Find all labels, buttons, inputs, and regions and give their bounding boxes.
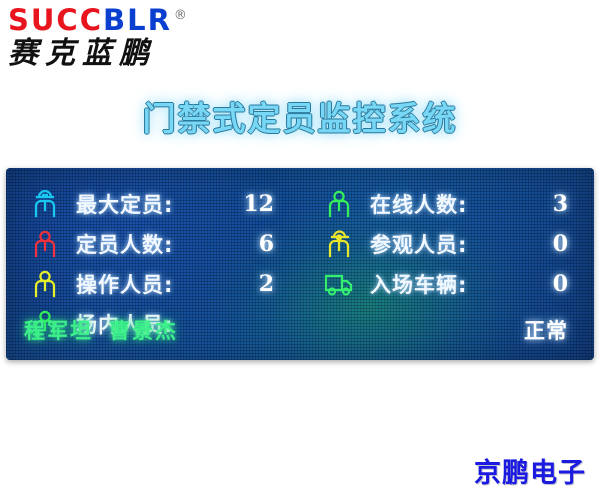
led-value-max-capacity: 12 [243,191,274,217]
led-value-online-count: 3 [553,191,568,217]
led-label-max-capacity: 最大定员: [76,189,173,219]
page-title: 门禁式定员监控系统 [0,92,600,140]
person-cap-icon [322,230,356,258]
led-onsite-name-1: 程军坦 [24,319,93,343]
led-row-online-count: 在线人数: 3 [300,184,594,224]
registered-trademark-icon: ® [174,8,187,23]
led-row-assigned-count: 定员人数: 6 [6,224,300,264]
person-hardhat-icon [28,190,62,218]
led-label-vehicles: 入场车辆: [370,269,467,299]
led-value-vehicles: 0 [553,271,568,297]
led-label-visitors: 参观人员: [370,229,467,259]
logo-chinese-text: 赛克蓝鹏 [8,38,238,70]
led-label-operators: 操作人员: [76,269,173,299]
led-onsite-name-2: 曹景杰 [109,319,178,343]
person-icon [322,190,356,218]
led-bottom-row: 程军坦曹景杰 正常 [6,310,594,350]
led-value-visitors: 0 [553,231,568,257]
footer-brand: 京鹏电子 [474,451,586,490]
logo-latin-red: SUCC [8,3,103,37]
led-status-badge: 正常 [524,315,568,345]
led-onsite-names: 程军坦曹景杰 [24,315,178,345]
person-icon [28,270,62,298]
led-row-visitors: 参观人员: 0 [300,224,594,264]
led-value-operators: 2 [259,271,274,297]
person-icon [28,230,62,258]
truck-icon [322,271,356,297]
led-row-operators: 操作人员: 2 [6,264,300,304]
logo-latin-blue: BLR [103,3,172,37]
led-label-assigned-count: 定员人数: [76,229,173,259]
led-value-assigned-count: 6 [259,231,274,257]
logo-latin-text: SUCCBLR® [8,6,238,37]
led-label-online-count: 在线人数: [370,189,467,219]
led-row-vehicles: 入场车辆: 0 [300,264,594,304]
led-display-panel: 最大定员: 12 定员人数: 6 [6,168,594,360]
led-row-max-capacity: 最大定员: 12 [6,184,300,224]
company-logo: SUCCBLR® 赛克蓝鹏 [8,6,238,72]
